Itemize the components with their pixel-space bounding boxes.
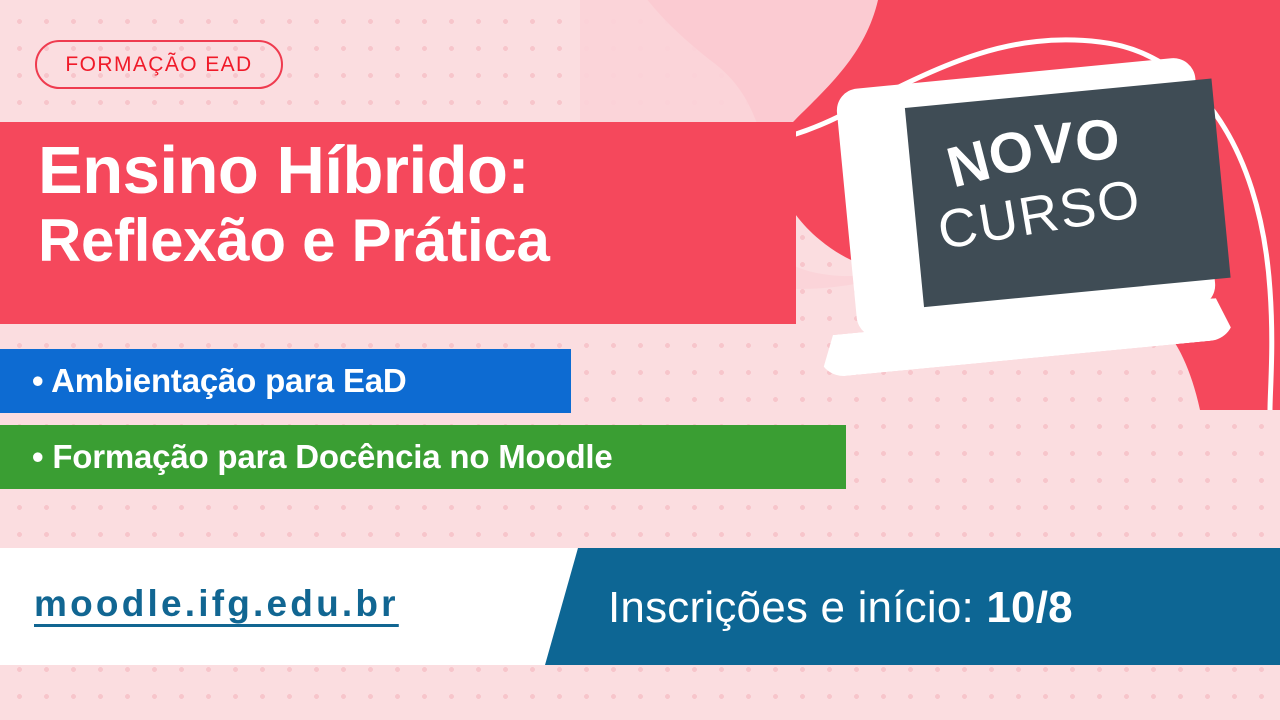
formacao-ead-badge: FORMAÇÃO EAD — [35, 40, 283, 89]
title-line-1: Ensino Híbrido: — [38, 138, 798, 204]
enrollment-info: Inscrições e início: 10/8 — [608, 583, 1073, 633]
page-title: Ensino Híbrido: Reflexão e Prática — [38, 138, 798, 270]
course-label-1: • Ambientação para EaD — [32, 362, 407, 400]
course-bar-formacao-moodle: • Formação para Docência no Moodle — [0, 425, 846, 489]
course-bar-ambientacao: • Ambientação para EaD — [0, 349, 571, 413]
moodle-url-link[interactable]: moodle.ifg.edu.br — [34, 583, 399, 625]
title-line-2: Reflexão e Prática — [38, 212, 798, 271]
enrollment-label: Inscrições e início: — [608, 583, 974, 632]
enrollment-date: 10/8 — [986, 583, 1072, 632]
course-label-2: • Formação para Docência no Moodle — [32, 438, 613, 476]
promo-banner: FORMAÇÃO EAD Ensino Híbrido: Reflexão e … — [0, 0, 1280, 720]
novo-letter-v: V — [1032, 109, 1077, 178]
badge-label: FORMAÇÃO EAD — [65, 53, 252, 77]
laptop-illustration: NOVO CURSO — [793, 55, 1237, 384]
novo-letter-o2: O — [1074, 108, 1121, 174]
